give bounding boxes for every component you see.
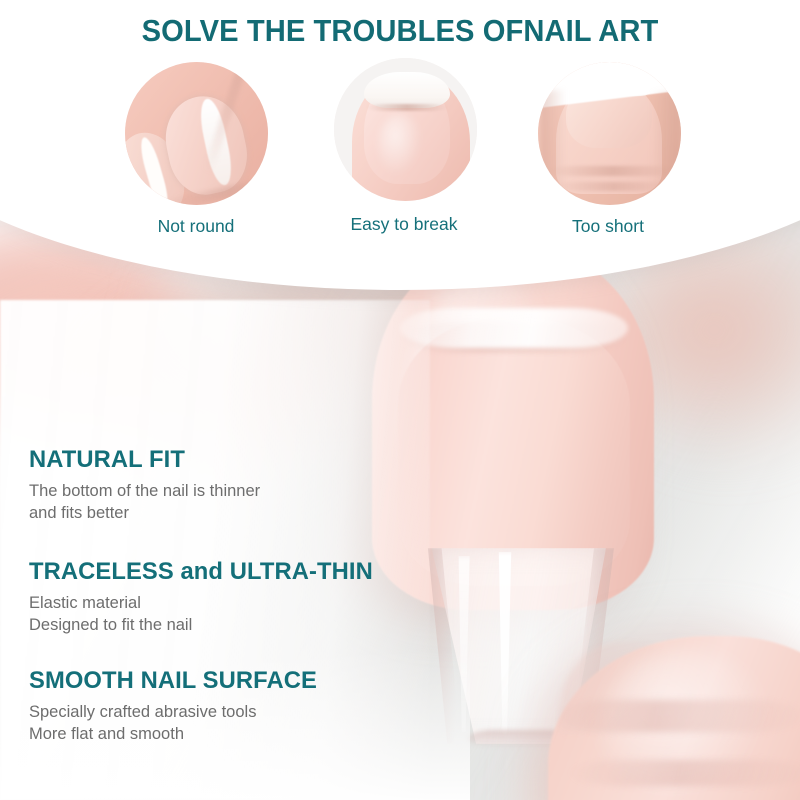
feature-title: TRACELESS and ULTRA-THIN: [29, 558, 373, 586]
thumbnail-long-free-edge-photo: [334, 58, 477, 201]
problem-caption-not-round: Not round: [96, 216, 296, 237]
feature-title: SMOOTH NAIL SURFACE: [29, 667, 317, 695]
problem-photo-not-round: [125, 62, 268, 205]
supporting-thumb-crease: [570, 760, 800, 786]
feature-description-line: and fits better: [29, 502, 260, 524]
problem-photo-too-short: [538, 62, 681, 205]
hero-nail-cuticle-ridge: [400, 308, 628, 348]
feature-description-line: Elastic material: [29, 592, 383, 614]
fingernail-side-view-photo: [125, 62, 268, 205]
feature-description-line: The bottom of the nail is thinner: [29, 480, 260, 502]
problem-caption-easy-to-break: Easy to break: [304, 214, 504, 235]
feature-description-line: More flat and smooth: [29, 723, 326, 745]
feature-natural-fit: NATURAL FIT The bottom of the nail is th…: [29, 446, 260, 524]
feature-traceless-ultra-thin: TRACELESS and ULTRA-THIN Elastic materia…: [29, 558, 383, 636]
problem-photo-easy-to-break: [334, 58, 477, 201]
problem-caption-too-short: Too short: [508, 216, 708, 237]
product-infographic: SOLVE THE TROUBLES OFNAIL ART: [0, 0, 800, 800]
feature-title: NATURAL FIT: [29, 446, 253, 474]
page-title: SOLVE THE TROUBLES OFNAIL ART: [18, 14, 782, 49]
supporting-thumb-crease: [556, 700, 800, 732]
feature-description-line: Specially crafted abrasive tools: [29, 701, 326, 723]
feature-description-line: Designed to fit the nail: [29, 614, 383, 636]
hero-nail-plate: [398, 318, 630, 586]
feature-smooth-nail-surface: SMOOTH NAIL SURFACE Specially crafted ab…: [29, 667, 326, 745]
short-fingernail-photo: [538, 62, 681, 205]
